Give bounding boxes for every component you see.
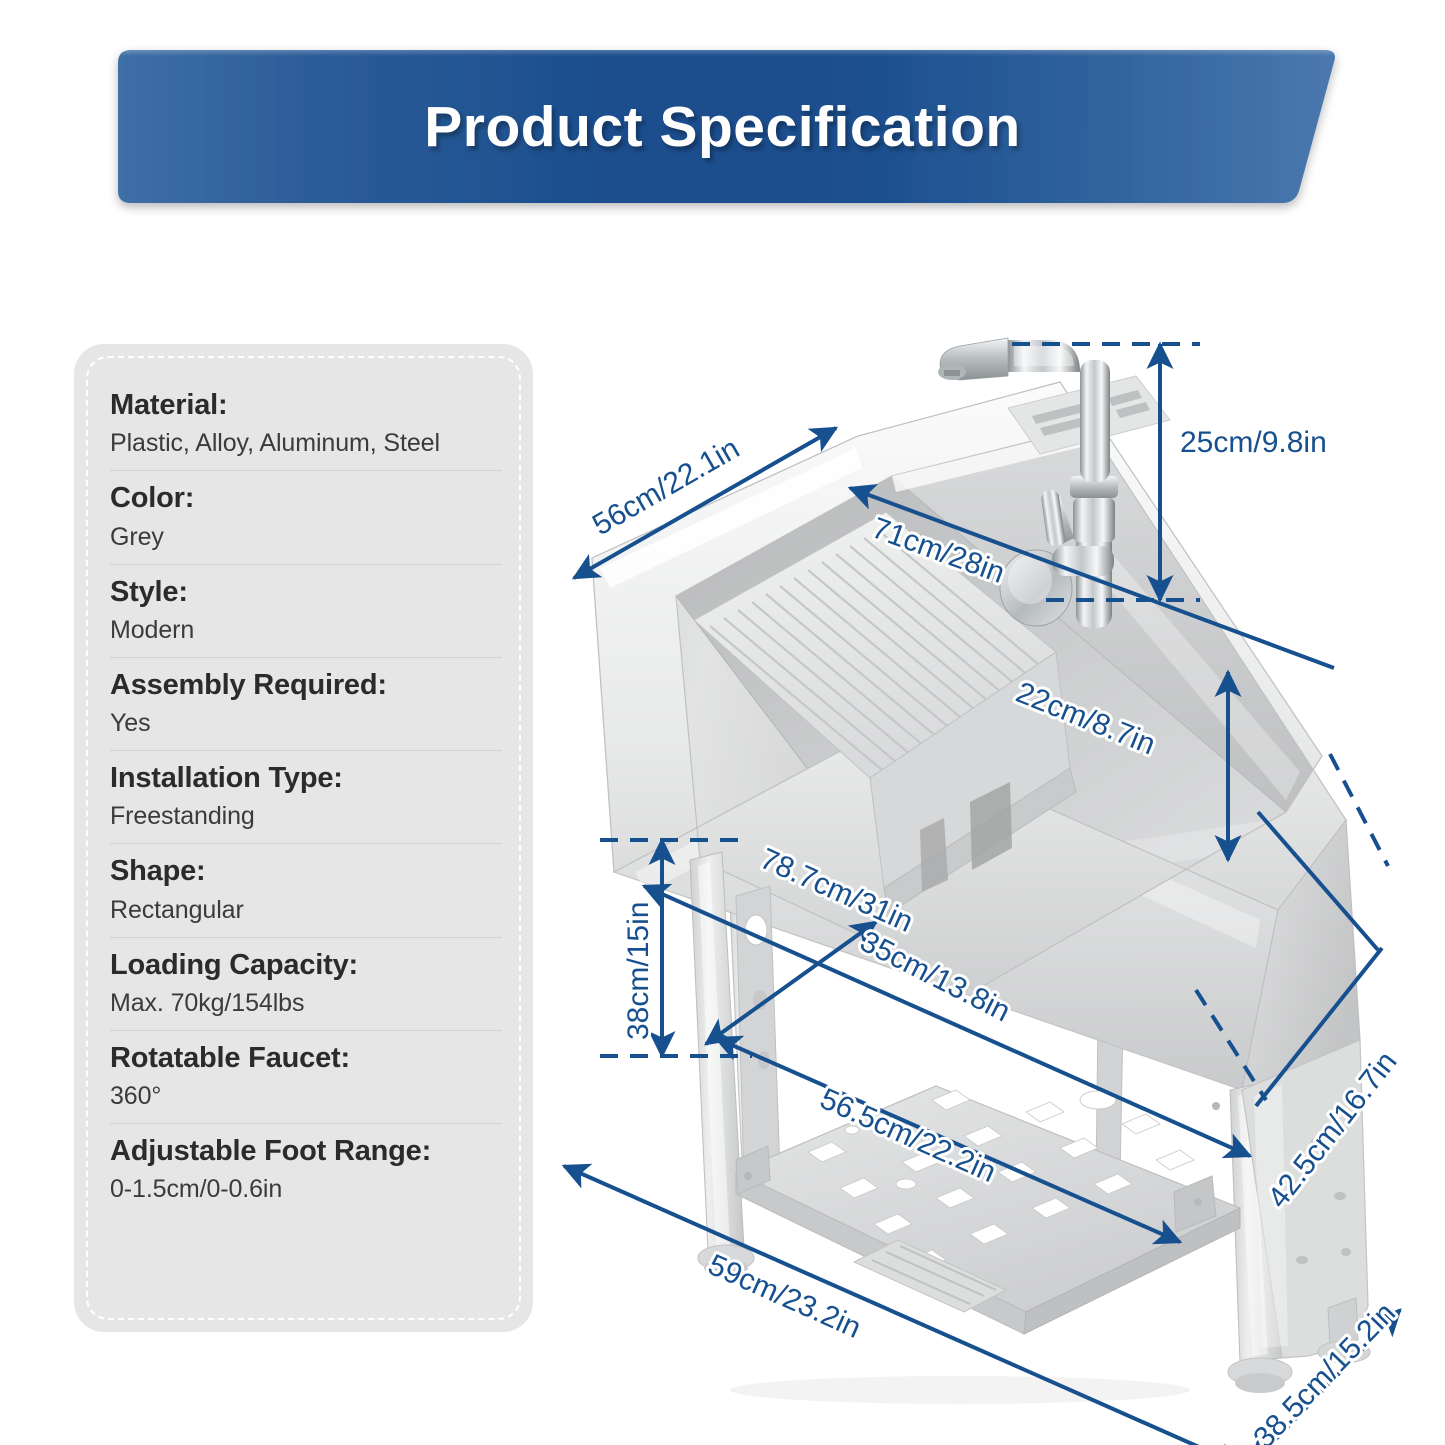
spec-value: Max. 70kg/154lbs	[110, 986, 502, 1020]
spec-value: 0-1.5cm/0-0.6in	[110, 1172, 502, 1206]
spec-label: Shape:	[110, 852, 502, 890]
spec-label: Rotatable Faucet:	[110, 1039, 502, 1077]
banner-body	[118, 50, 1335, 203]
spec-label: Style:	[110, 573, 502, 611]
spec-label: Loading Capacity:	[110, 946, 502, 984]
spec-value: 360°	[110, 1079, 502, 1113]
spec-row-material: Material: Plastic, Alloy, Aluminum, Stee…	[110, 378, 502, 471]
sink-body	[592, 376, 1370, 1404]
spec-value: Grey	[110, 520, 502, 554]
spec-value: Yes	[110, 706, 502, 740]
dim-label-faucet-height: 25cm/9.8in	[1180, 426, 1327, 459]
spec-row-assembly-required: Assembly Required: Yes	[110, 658, 502, 751]
spec-row-installation-type: Installation Type: Freestanding	[110, 751, 502, 844]
spec-label: Assembly Required:	[110, 666, 502, 704]
spec-list: Material: Plastic, Alloy, Aluminum, Stee…	[110, 378, 502, 1216]
spec-row-adjustable-foot-range: Adjustable Foot Range: 0-1.5cm/0-0.6in	[110, 1124, 502, 1216]
product-illustration: 56cm/22.1in 71cm/28in 25cm/9.8in 22cm/8.…	[540, 300, 1445, 1445]
spec-label: Color:	[110, 479, 502, 517]
spec-label: Adjustable Foot Range:	[110, 1132, 502, 1170]
spec-label: Installation Type:	[110, 759, 502, 797]
header-banner: Product Specification	[0, 0, 1445, 230]
spec-value: Modern	[110, 613, 502, 647]
dim-label-leg-height: 38cm/15in	[622, 902, 655, 1040]
spec-row-style: Style: Modern	[110, 565, 502, 658]
banner-shape	[0, 0, 1445, 230]
spec-value: Freestanding	[110, 799, 502, 833]
spec-row-color: Color: Grey	[110, 471, 502, 564]
spec-row-rotatable-faucet: Rotatable Faucet: 360°	[110, 1031, 502, 1124]
spec-value: Rectangular	[110, 893, 502, 927]
spec-value: Plastic, Alloy, Aluminum, Steel	[110, 426, 502, 460]
spec-row-loading-capacity: Loading Capacity: Max. 70kg/154lbs	[110, 938, 502, 1031]
spec-row-shape: Shape: Rectangular	[110, 844, 502, 937]
spec-label: Material:	[110, 386, 502, 424]
